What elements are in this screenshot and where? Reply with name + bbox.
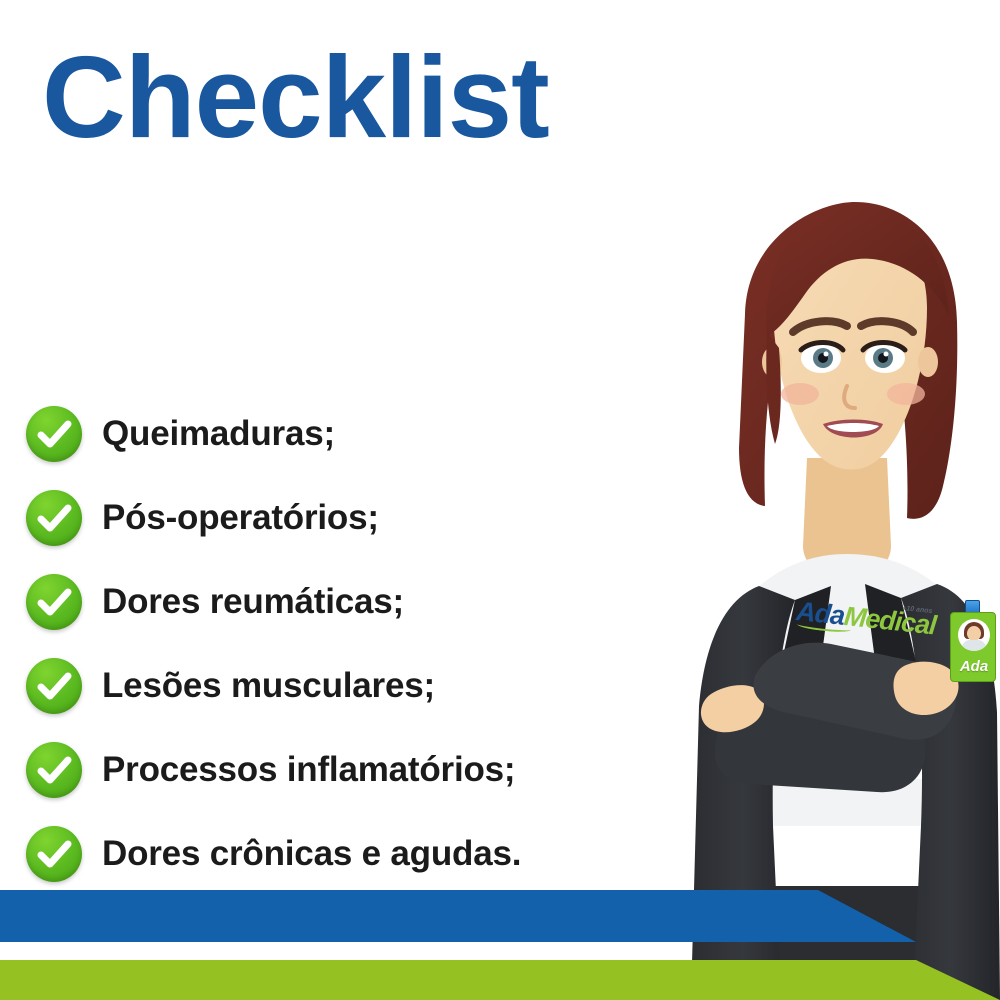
woman-illustration	[655, 186, 1000, 1000]
badge-card: Ada	[950, 612, 996, 682]
list-item-label: Queimaduras;	[102, 414, 335, 454]
id-badge: Ada	[950, 600, 996, 682]
avatar-body	[962, 640, 986, 651]
check-circle-icon	[26, 826, 82, 882]
check-circle-icon	[26, 574, 82, 630]
list-item[interactable]: Queimaduras;	[26, 392, 686, 476]
check-circle-icon	[26, 742, 82, 798]
checklist-poster: Checklist Queimaduras; Pós-operatórios; …	[0, 0, 1000, 1000]
list-item-label: Dores reumáticas;	[102, 582, 404, 622]
page-title: Checklist	[42, 38, 549, 156]
check-circle-icon	[26, 490, 82, 546]
check-circle-icon	[26, 658, 82, 714]
list-item[interactable]: Pós-operatórios;	[26, 476, 686, 560]
badge-name: Ada	[951, 658, 997, 675]
list-item[interactable]: Dores reumáticas;	[26, 560, 686, 644]
avatar-face	[967, 626, 981, 641]
check-circle-icon	[26, 406, 82, 462]
list-item-label: Pós-operatórios;	[102, 498, 379, 538]
list-item[interactable]: Processos inflamatórios;	[26, 728, 686, 812]
bottom-blue-band	[0, 890, 916, 942]
list-item-label: Dores crônicas e agudas.	[102, 834, 521, 874]
bottom-green-band	[0, 960, 1000, 1000]
avatar	[958, 619, 990, 651]
list-item[interactable]: Lesões musculares;	[26, 644, 686, 728]
list-item-label: Processos inflamatórios;	[102, 750, 515, 790]
list-item-label: Lesões musculares;	[102, 666, 435, 706]
checklist-group: Queimaduras; Pós-operatórios; Dores reum…	[26, 392, 686, 896]
list-item[interactable]: Dores crônicas e agudas.	[26, 812, 686, 896]
